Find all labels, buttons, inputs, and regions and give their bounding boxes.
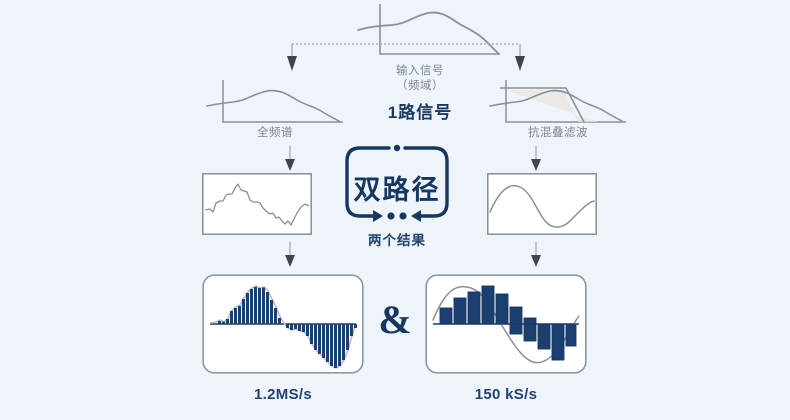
dot-icon [399, 212, 406, 219]
antialias-filter-caption: 抗混叠滤波 [488, 126, 628, 141]
arrow-left-icon [411, 210, 421, 222]
low-rate-result [425, 274, 587, 374]
scope-frame [488, 174, 596, 234]
right-stage-arrow [530, 146, 542, 172]
dual-path-subtitle: 两个结果 [337, 229, 457, 249]
arrow-down-icon [531, 159, 541, 171]
input-signal-headline: 1路信号 [350, 98, 490, 123]
right-result-arrow [530, 242, 542, 268]
arrow-down-icon [287, 56, 297, 71]
low-rate-label: 150 kS/s [425, 386, 587, 403]
diagram-canvas: 输入信号 （频域） 1路信号 全频谱 [0, 0, 790, 420]
arrow-down-icon [515, 56, 525, 71]
high-rate-label: 1.2MS/s [202, 386, 364, 403]
arrow-down-icon [285, 159, 295, 171]
filter-passband-shade [506, 90, 598, 122]
dot-icon [387, 212, 394, 219]
dot-icon [394, 145, 400, 151]
spectrum-curve [207, 91, 339, 121]
result-separator: & [375, 300, 415, 340]
arrow-right-icon [373, 210, 383, 222]
branch-connector [286, 38, 526, 76]
antialias-filter-chart [488, 80, 628, 130]
arrow-down-icon [285, 255, 295, 267]
dual-path-title: 双路径 [343, 168, 451, 207]
left-stage-arrow [284, 146, 296, 172]
high-rate-result [202, 274, 364, 374]
left-result-arrow [284, 242, 296, 268]
scope-frame [203, 174, 311, 234]
arrow-down-icon [531, 255, 541, 267]
full-spectrum-scope [202, 173, 312, 235]
full-spectrum-chart [205, 80, 345, 130]
filtered-sine-scope [487, 173, 597, 235]
full-spectrum-caption: 全频谱 [205, 126, 345, 141]
